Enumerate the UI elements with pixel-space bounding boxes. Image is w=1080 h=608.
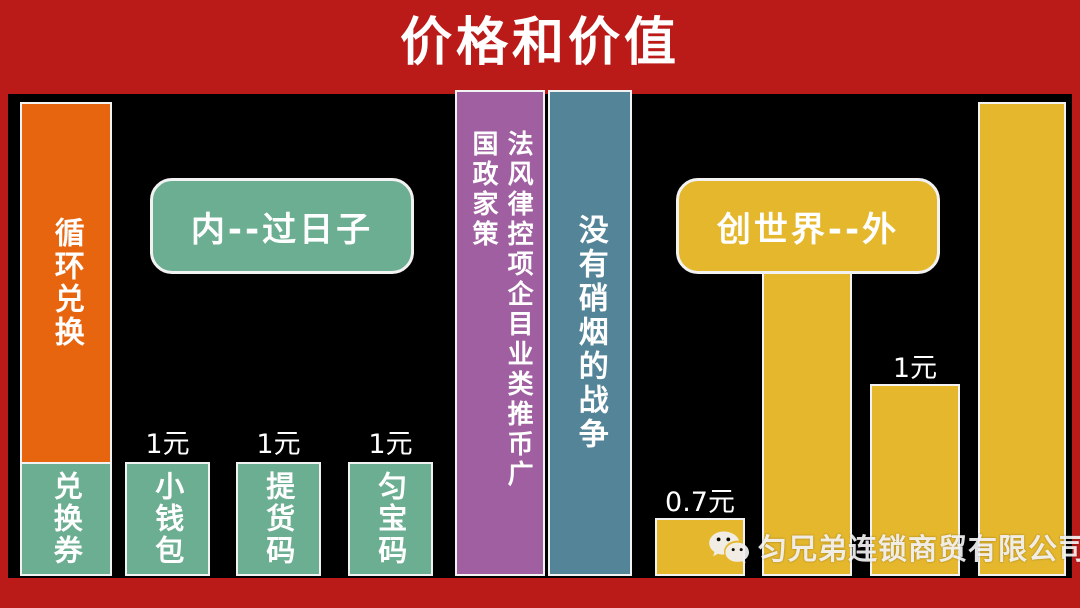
callout-outer-label: 创世界--外 — [717, 202, 899, 251]
frame-bottom-border — [0, 578, 1080, 608]
bar-label-war-column: 没有硝烟的战争 — [573, 214, 607, 452]
policy-group-col-h: 家策 — [465, 190, 500, 250]
policy-group-col-e: 类推 — [500, 370, 535, 430]
chart-plot-area: 循环兑换 兑换券 1元 小钱包 1元 提货码 1元 匀宝码 法风 律控 项企 目… — [8, 94, 1072, 578]
callout-inner-label: 内--过日子 — [191, 202, 373, 251]
wechat-icon — [708, 530, 750, 564]
bar-value-gold-3: 1元 — [870, 346, 960, 385]
bar-war-column[interactable]: 没有硝烟的战争 — [548, 90, 632, 576]
policy-group-col-c: 项企 — [500, 250, 535, 310]
bar-pickup-code[interactable]: 提货码 — [236, 462, 321, 576]
bar-label-yunbao-code: 匀宝码 — [374, 471, 406, 567]
bar-label-cycle-exchange: 循环兑换 — [49, 217, 83, 349]
bar-value-gold-1: 0.7元 — [645, 480, 755, 519]
bar-value-pickup-code: 1元 — [236, 422, 321, 461]
title-band: 价格和价值 — [0, 0, 1080, 92]
bar-gold-4[interactable] — [978, 102, 1066, 576]
bar-yunbao-code[interactable]: 匀宝码 — [348, 462, 433, 576]
bar-policy-column[interactable]: 法风 律控 项企 目业 类推 币广 国政 家策 — [455, 90, 545, 576]
policy-group-col-d: 目业 — [500, 310, 535, 370]
frame-right-border — [1072, 92, 1080, 580]
callout-outer[interactable]: 创世界--外 — [676, 178, 940, 274]
slide-canvas: 价格和价值 循环兑换 兑换券 1元 小钱包 1元 提货码 1元 匀宝码 法风 律 — [0, 0, 1080, 608]
callout-inner[interactable]: 内--过日子 — [150, 178, 414, 274]
bar-value-yunbao-code: 1元 — [348, 422, 433, 461]
frame-left-border — [0, 92, 8, 580]
policy-group-col-a: 法风 — [500, 130, 535, 190]
bar-label-wallet: 小钱包 — [151, 471, 183, 567]
bar-label-pickup-code: 提货码 — [262, 471, 294, 567]
page-title: 价格和价值 — [0, 6, 1080, 80]
watermark: 匀兄弟连锁商贸有限公司 — [708, 526, 1080, 568]
watermark-text: 匀兄弟连锁商贸有限公司 — [758, 526, 1080, 568]
policy-group-col-f: 币广 — [500, 430, 535, 490]
bar-wallet[interactable]: 小钱包 — [125, 462, 210, 576]
policy-column-labels: 法风 律控 项企 目业 类推 币广 国政 家策 — [465, 130, 535, 540]
bar-exchange-coupon[interactable]: 兑换券 — [20, 462, 112, 576]
bar-label-exchange-coupon: 兑换券 — [50, 471, 82, 567]
bar-value-wallet: 1元 — [125, 422, 210, 461]
policy-group-col-g: 国政 — [465, 130, 500, 190]
bar-cycle-exchange[interactable]: 循环兑换 — [20, 102, 112, 464]
policy-group-col-b: 律控 — [500, 190, 535, 250]
